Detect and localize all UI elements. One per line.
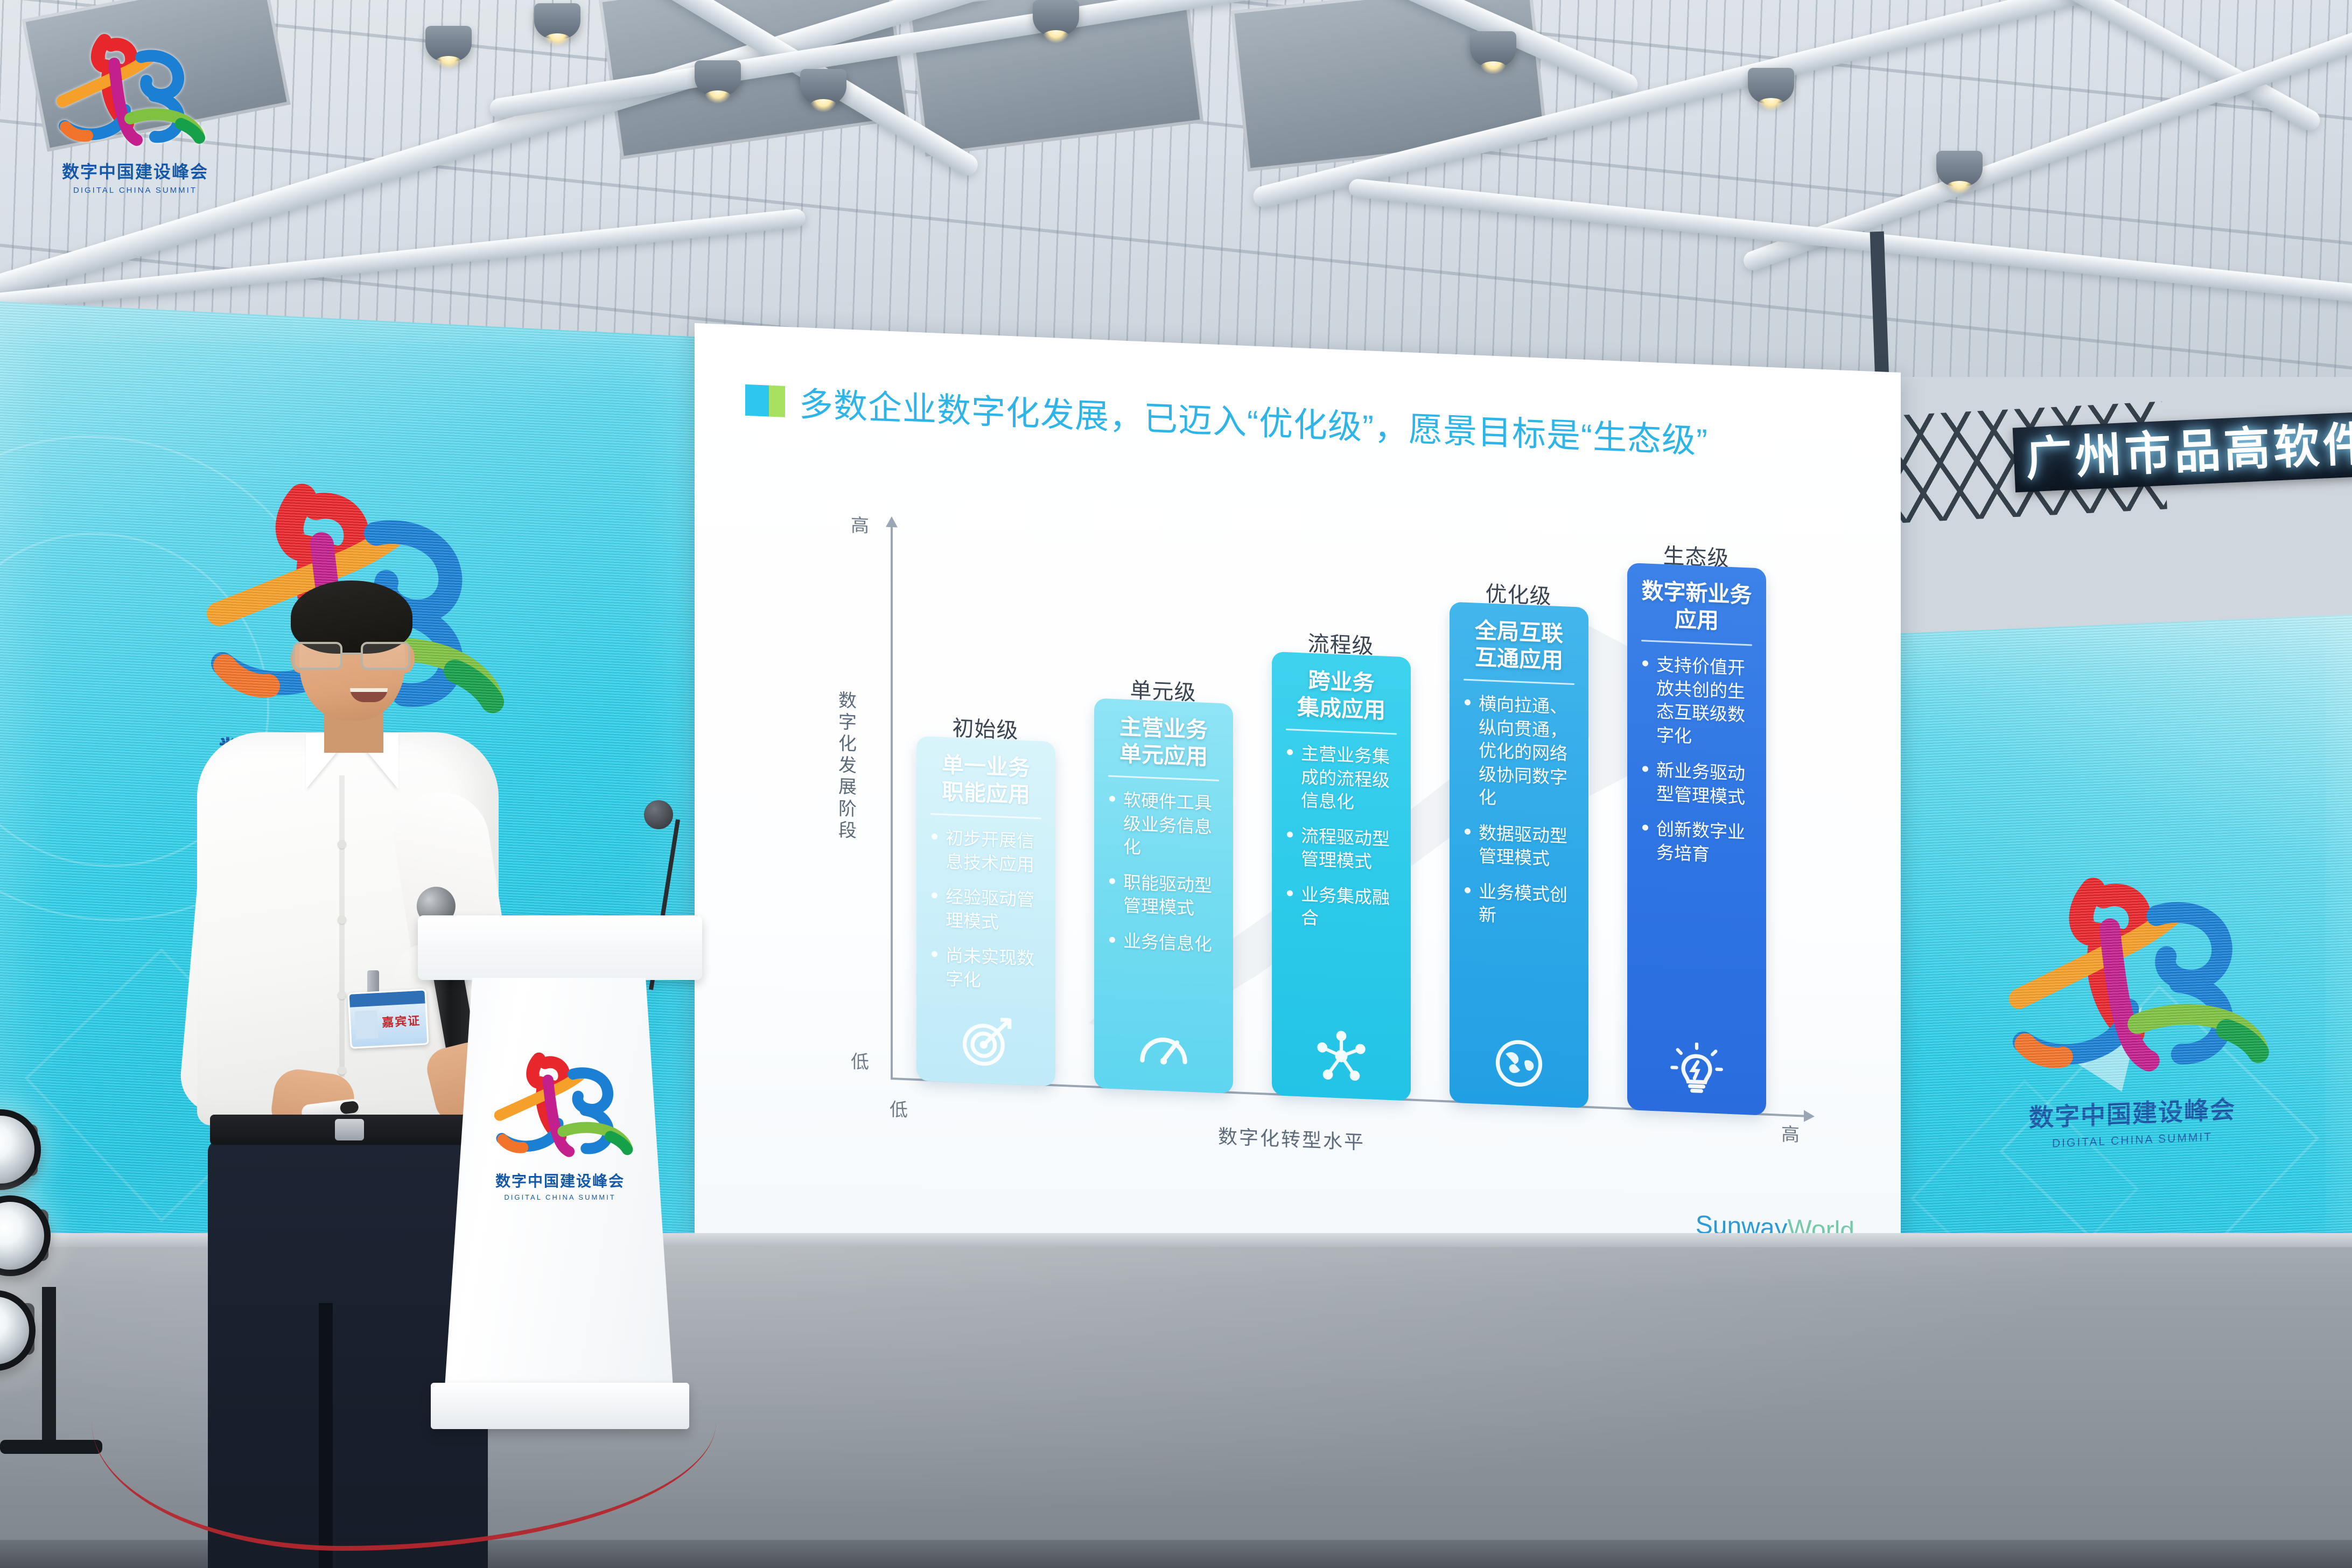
list-item: 软硬件工具级业务信息化 <box>1105 787 1222 863</box>
maturity-chart: 高 低 数字化发展阶段 低 高 数字化转型水平 初始级 单一业务 <box>755 487 1853 1233</box>
list-item: 业务集成融合 <box>1283 882 1400 934</box>
maturity-columns: 初始级 单一业务 职能应用 初步开展信息技术应用 经验驱动管理模式 尚未实现数字… <box>916 494 1832 1118</box>
shirt-placket <box>339 775 345 1077</box>
glasses-bridge <box>342 653 361 655</box>
gauge-icon <box>1136 1020 1192 1078</box>
column-heading: 单一业务 职能应用 <box>927 751 1045 818</box>
podium-logo: 数字中国建设峰会 DIGITAL CHINA SUMMIT <box>485 1050 635 1228</box>
digital-china-summit-mark-icon <box>46 31 208 160</box>
shirt-button <box>338 991 346 999</box>
column-heading: 数字新业务 应用 <box>1638 577 1755 645</box>
lightbulb-idea-icon <box>1669 1041 1725 1100</box>
badge-photo <box>354 1010 379 1039</box>
presentation-screen: 多数企业数字化发展，已迈入“优化级”，愿景目标是“生态级” 高 低 数字化发展阶… <box>695 323 1901 1288</box>
event-logo-led-right: 数字中国建设峰会 DIGITAL CHINA SUMMIT <box>1987 865 2278 1147</box>
ceiling-spotlight <box>1748 68 1794 103</box>
ceiling-spotlight <box>1470 31 1516 67</box>
list-item: 业务信息化 <box>1105 928 1222 956</box>
light-stand-post <box>42 1287 56 1448</box>
podium-top <box>418 915 702 980</box>
list-item: 新业务驱动型管理模式 <box>1638 758 1755 809</box>
event-logo-name-cn: 数字中国建设峰会 <box>46 158 224 183</box>
ceiling-spotlight <box>425 26 472 61</box>
globe-icon <box>1491 1034 1547 1093</box>
maturity-column-initial[interactable]: 单一业务 职能应用 初步开展信息技术应用 经验驱动管理模式 尚未实现数字化 <box>916 736 1055 1087</box>
stage-light-fixture <box>0 1195 51 1276</box>
y-axis-tick-high: 高 <box>851 510 869 537</box>
digital-china-summit-mark-icon <box>485 1050 635 1171</box>
x-axis-tick-high: 高 <box>1781 1119 1800 1146</box>
lens-left <box>293 642 342 670</box>
podium-microphone-head-icon <box>644 800 673 829</box>
podium-logo-name-cn: 数字中国建设峰会 <box>485 1170 635 1191</box>
x-axis-tick-low: 低 <box>890 1095 908 1122</box>
column-bullet-list: 初步开展信息技术应用 经验驱动管理模式 尚未实现数字化 <box>927 825 1045 995</box>
title-accent-bar <box>745 384 785 417</box>
conference-stage-photo: 广州市品高软件 <box>0 0 2352 1568</box>
network-icon <box>1313 1027 1369 1085</box>
maturity-column-ecosystem[interactable]: 数字新业务 应用 支持价值开放共创的生态互联级数字化 新业务驱动型管理模式 创新… <box>1627 563 1766 1116</box>
column-bullet-list: 软硬件工具级业务信息化 职能驱动型管理模式 业务信息化 <box>1105 787 1222 956</box>
y-axis-label: 数字化发展阶段 <box>836 690 860 842</box>
ceiling-spotlight <box>695 60 741 96</box>
event-logo-watermark: 数字中国建设峰会 DIGITAL CHINA SUMMIT <box>46 31 224 204</box>
eyeglasses-icon <box>289 642 416 671</box>
y-axis <box>891 525 893 1080</box>
y-axis-tick-low: 低 <box>851 1047 869 1074</box>
column-bullet-list: 支持价值开放共创的生态互联级数字化 新业务驱动型管理模式 创新数字业务培育 <box>1638 652 1755 868</box>
slide-title: 多数企业数字化发展，已迈入“优化级”，愿景目标是“生态级” <box>799 383 1708 463</box>
list-item: 支持价值开放共创的生态互联级数字化 <box>1638 652 1755 751</box>
podium: 数字中国建设峰会 DIGITAL CHINA SUMMIT <box>409 915 711 1459</box>
column-heading: 全局互联 互通应用 <box>1460 616 1578 683</box>
shirt-button <box>338 1066 346 1075</box>
x-axis-label: 数字化转型水平 <box>1218 1121 1365 1155</box>
event-logo-name-en: DIGITAL CHINA SUMMIT <box>46 186 224 195</box>
ceiling-spotlight <box>1033 0 1079 36</box>
digital-china-summit-mark-icon <box>1987 865 2278 1104</box>
shirt-button <box>338 915 346 924</box>
list-item: 流程驱动型管理模式 <box>1283 823 1400 874</box>
lens-right <box>361 642 410 670</box>
list-item: 数据驱动型管理模式 <box>1460 820 1578 872</box>
podium-logo-name-en: DIGITAL CHINA SUMMIT <box>485 1193 635 1201</box>
list-item: 业务模式创新 <box>1460 879 1578 930</box>
belt-buckle <box>335 1119 364 1140</box>
list-item: 横向拉通、纵向贯通，优化的网络级协同数字化 <box>1460 691 1578 813</box>
list-item: 创新数字业务培育 <box>1638 816 1755 868</box>
slide-canvas: 多数企业数字化发展，已迈入“优化级”，愿景目标是“生态级” 高 低 数字化发展阶… <box>695 323 1901 1288</box>
stage-light-fixture <box>0 1109 41 1190</box>
maturity-column-optimized[interactable]: 全局互联 互通应用 横向拉通、纵向贯通，优化的网络级协同数字化 数据驱动型管理模… <box>1450 602 1588 1109</box>
shirt-button <box>338 840 346 849</box>
slide-title-row: 多数企业数字化发展，已迈入“优化级”，愿景目标是“生态级” <box>745 381 1873 470</box>
ceiling-spotlight <box>534 3 580 39</box>
column-heading: 主营业务 单元应用 <box>1105 712 1222 780</box>
list-item: 初步开展信息技术应用 <box>927 825 1045 877</box>
list-item: 尚未实现数字化 <box>927 943 1045 995</box>
light-stand-foot <box>0 1440 102 1454</box>
stage-light-fixture <box>0 1290 36 1371</box>
ceiling-spotlight <box>1936 151 1983 186</box>
column-heading: 跨业务 集成应用 <box>1283 666 1400 733</box>
ceiling-spotlight <box>800 69 846 104</box>
list-item: 职能驱动型管理模式 <box>1105 870 1222 921</box>
list-item: 主营业务集成的流程级信息化 <box>1283 741 1400 816</box>
list-item: 经验驱动管理模式 <box>927 884 1045 936</box>
column-bullet-list: 横向拉通、纵向贯通，优化的网络级协同数字化 数据驱动型管理模式 业务模式创新 <box>1460 691 1578 930</box>
column-bullet-list: 主营业务集成的流程级信息化 流程驱动型管理模式 业务集成融合 <box>1283 741 1400 934</box>
maturity-column-process[interactable]: 跨业务 集成应用 主营业务集成的流程级信息化 流程驱动型管理模式 业务集成融合 <box>1272 652 1411 1101</box>
maturity-column-unit[interactable]: 主营业务 单元应用 软硬件工具级业务信息化 职能驱动型管理模式 业务信息化 <box>1094 698 1233 1094</box>
target-icon <box>958 1012 1014 1070</box>
